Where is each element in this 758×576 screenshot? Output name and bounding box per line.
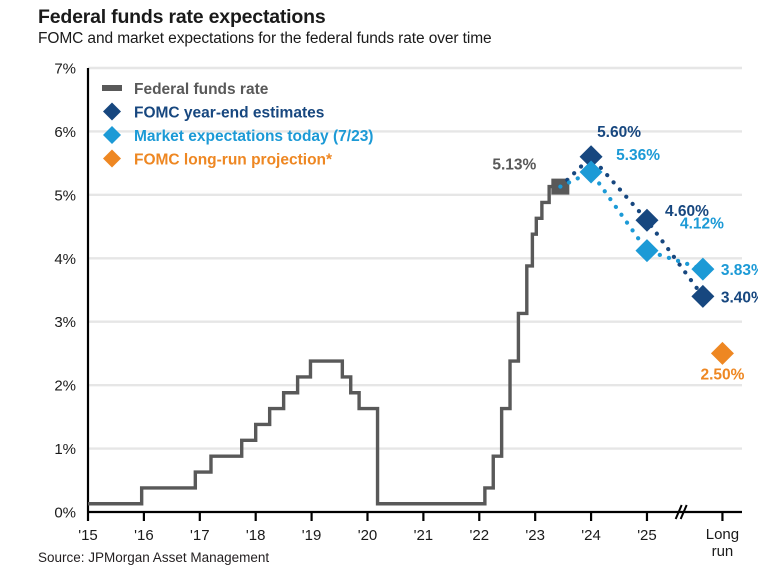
y-axis-tick-label: 0%	[54, 505, 76, 522]
x-axis-tick-label: '21	[414, 527, 434, 544]
legend-item-label: FOMC long-run projection*	[134, 152, 333, 169]
chart-legend: Federal funds rateFOMC year-end estimate…	[102, 81, 373, 169]
x-axis-tick-label: '17	[190, 527, 210, 544]
x-axis-tick-label: '22	[470, 527, 490, 544]
y-axis-tick-label: 4%	[54, 251, 76, 268]
x-axis-tick-label: '24	[581, 527, 601, 544]
legend-line-marker	[102, 85, 122, 91]
historical-rate-path	[88, 187, 560, 504]
data-value-label: 4.12%	[680, 216, 724, 233]
y-axis-tick-label: 1%	[54, 441, 76, 458]
historical-rate-line	[88, 179, 569, 504]
data-value-label: 2.50%	[700, 366, 744, 383]
y-axis-tick-label: 3%	[54, 314, 76, 331]
y-axis-tick-label: 7%	[54, 61, 76, 78]
x-axis-tick-label: '25	[637, 527, 657, 544]
data-value-label: 3.83%	[721, 262, 758, 279]
y-axis-tick-label: 2%	[54, 378, 76, 395]
legend-item-label: Market expectations today (7/23)	[134, 128, 373, 145]
data-value-label: 5.60%	[597, 124, 641, 141]
data-value-label: 3.40%	[721, 289, 758, 306]
market-expectation-marker	[691, 258, 714, 281]
x-axis-labels-group: '15'16'17'18'19'20'21'22'23'24'25Longrun	[78, 526, 739, 560]
y-axis-tick-label: 6%	[54, 124, 76, 141]
legend-item-label: Federal funds rate	[134, 81, 269, 98]
market-expectation-marker	[580, 161, 603, 184]
legend-item-label: FOMC year-end estimates	[134, 105, 324, 122]
y-axis-tick-label: 5%	[54, 187, 76, 204]
x-axis-tick-label: '19	[302, 527, 322, 544]
legend-diamond-marker	[103, 150, 121, 168]
chart-container: Federal funds rate expectations FOMC and…	[0, 0, 758, 576]
x-axis-tick-label: '15	[78, 527, 98, 544]
longrun-projection-marker	[711, 342, 734, 365]
data-value-label: 5.13%	[492, 157, 536, 174]
x-axis-tick-label: '23	[525, 527, 545, 544]
x-axis-tick-label: '20	[358, 527, 378, 544]
x-axis-tick-label: '16	[134, 527, 154, 544]
data-value-label: 5.36%	[616, 147, 660, 164]
legend-diamond-marker	[103, 126, 121, 144]
longrun-projection-marker	[711, 342, 734, 365]
chart-plot-area: 0%1%2%3%4%5%6%7% '15'16'17'18'19'20'21'2…	[0, 0, 758, 576]
x-axis-tick-label: run	[712, 543, 734, 560]
x-axis-tick-label: '18	[246, 527, 266, 544]
x-axis-tick-label: Long	[706, 526, 739, 543]
legend-diamond-marker	[103, 103, 121, 121]
y-axis-labels-group: 0%1%2%3%4%5%6%7%	[54, 61, 76, 522]
